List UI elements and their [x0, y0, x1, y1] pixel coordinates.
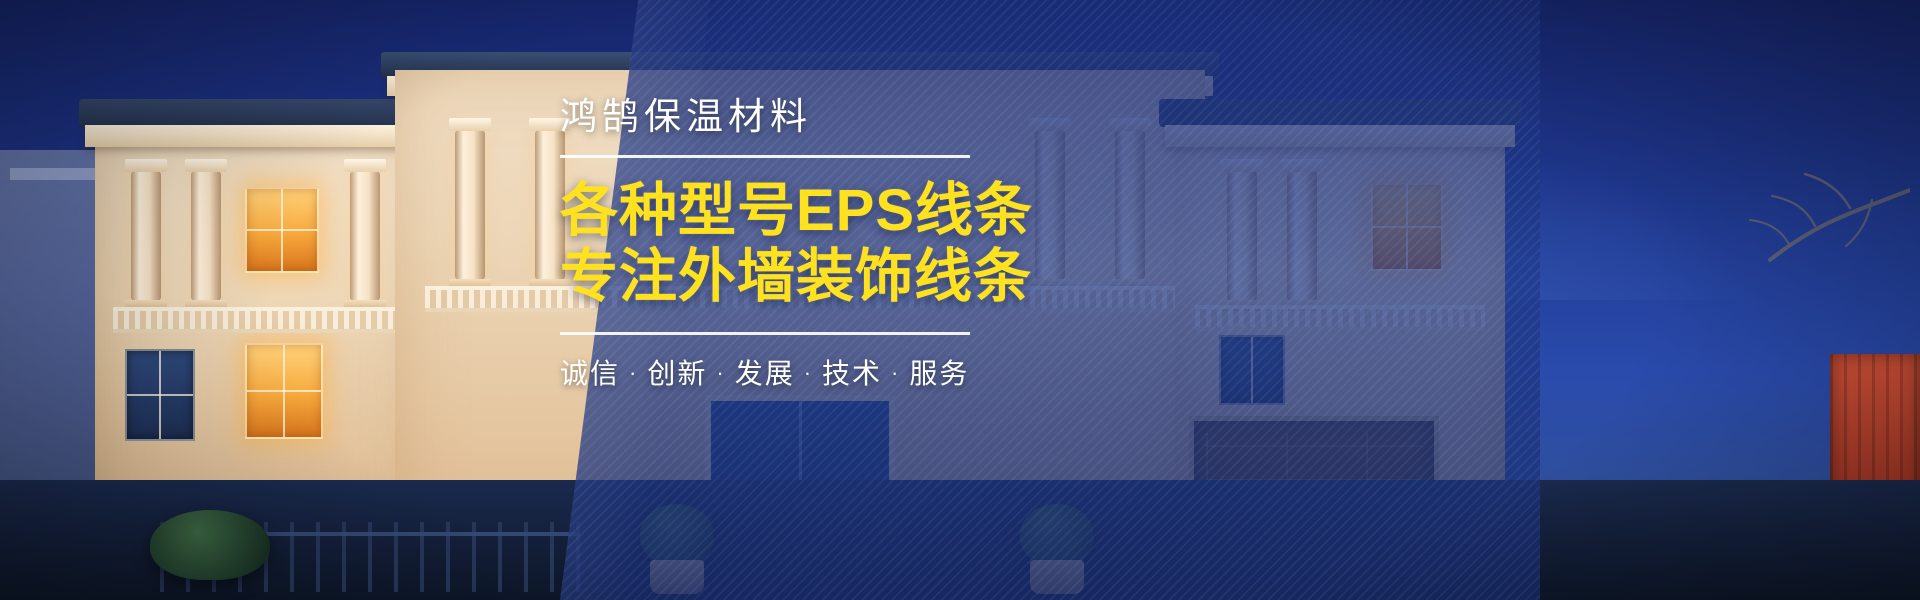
column [350, 171, 380, 301]
tagline-item: 服务 [909, 358, 969, 389]
banner-text-block: 鸿鹄保温材料 各种型号EPS线条 专注外墙装饰线条 诚信·创新·发展·技术·服务 [560, 96, 1030, 392]
tagline-separator: · [804, 360, 813, 386]
tagline-separator: · [716, 360, 725, 386]
divider-top [560, 155, 970, 158]
headline-line-2: 专注外墙装饰线条 [560, 244, 1030, 310]
window-lit [245, 343, 323, 439]
tagline-separator: · [891, 360, 900, 386]
hero-banner: 鸿鹄保温材料 各种型号EPS线条 专注外墙装饰线条 诚信·创新·发展·技术·服务 [0, 0, 1920, 600]
tagline-item: 创新 [647, 358, 707, 389]
window-lit [245, 187, 319, 273]
tagline-item: 技术 [822, 358, 882, 389]
headline: 各种型号EPS线条 专注外墙装饰线条 [560, 178, 1030, 310]
tagline-item: 发展 [735, 358, 795, 389]
brand-name: 鸿鹄保温材料 [560, 96, 1030, 139]
column [191, 171, 221, 301]
column [131, 171, 161, 301]
tree-branch-decoration [1610, 150, 1910, 370]
column [455, 130, 485, 280]
window-dark [125, 349, 195, 441]
divider-bottom [560, 332, 970, 335]
tagline-separator: · [629, 360, 638, 386]
tagline-item: 诚信 [560, 358, 620, 389]
left-wing-roof [79, 99, 441, 127]
headline-line-1: 各种型号EPS线条 [560, 178, 1033, 243]
shrub [150, 510, 270, 580]
tagline: 诚信·创新·发展·技术·服务 [560, 352, 1030, 392]
balustrade [113, 307, 407, 333]
left-wing-cornice [85, 125, 435, 147]
